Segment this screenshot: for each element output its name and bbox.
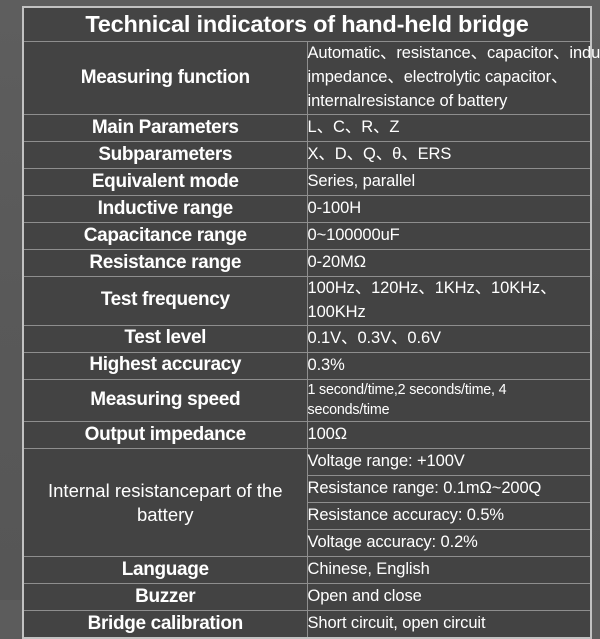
row-value-battery-resistance-range: Resistance range: 0.1mΩ~200Q <box>307 476 591 503</box>
table-row: Measuring speed 1 second/time,2 seconds/… <box>23 379 591 421</box>
table-row-battery: Internal resistancepart of the battery V… <box>23 449 591 476</box>
technical-indicators-table: Technical indicators of hand-held bridge… <box>22 6 592 639</box>
row-value-test-level: 0.1V、0.3V、0.6V <box>307 325 591 352</box>
table-row: Inductive range 0-100H <box>23 195 591 222</box>
row-value-bridge-calibration: Short circuit, open circuit <box>307 611 591 638</box>
row-value-equivalent-mode: Series, parallel <box>307 168 591 195</box>
table-row: Measuring function Automatic、resistance、… <box>23 42 591 115</box>
row-value-test-frequency: 100Hz、120Hz、1KHz、10KHz、100KHz <box>307 276 591 325</box>
value-line: impedance、electrolytic capacitor、 <box>308 66 591 90</box>
row-label-highest-accuracy: Highest accuracy <box>23 352 307 379</box>
row-label-resistance-range: Resistance range <box>23 249 307 276</box>
row-value-battery-voltage-accuracy: Voltage accuracy: 0.2% <box>307 530 591 557</box>
table-row: Language Chinese, English <box>23 557 591 584</box>
row-label-subparameters: Subparameters <box>23 141 307 168</box>
row-value-measuring-speed: 1 second/time,2 seconds/time, 4 seconds/… <box>307 379 591 421</box>
row-label-measuring-function: Measuring function <box>23 42 307 115</box>
row-value-buzzer: Open and close <box>307 584 591 611</box>
value-line: internalresistance of battery <box>308 90 591 114</box>
table-row: Main Parameters L、C、R、Z <box>23 114 591 141</box>
table-body: Technical indicators of hand-held bridge… <box>23 7 591 638</box>
row-label-capacitance-range: Capacitance range <box>23 222 307 249</box>
label-line: function <box>178 67 250 88</box>
row-value-capacitance-range: 0~100000uF <box>307 222 591 249</box>
row-label-test-frequency: Test frequency <box>23 276 307 325</box>
row-value-battery-resistance-accuracy: Resistance accuracy: 0.5% <box>307 503 591 530</box>
table-row: Highest accuracy 0.3% <box>23 352 591 379</box>
table-row: Test frequency 100Hz、120Hz、1KHz、10KHz、10… <box>23 276 591 325</box>
row-value-main-parameters: L、C、R、Z <box>307 114 591 141</box>
page-background: Technical indicators of hand-held bridge… <box>0 0 600 600</box>
row-value-battery-voltage-range: Voltage range: +100V <box>307 449 591 476</box>
row-label-test-level: Test level <box>23 325 307 352</box>
row-value-language: Chinese, English <box>307 557 591 584</box>
table-row: Resistance range 0-20MΩ <box>23 249 591 276</box>
table-row: Bridge calibration Short circuit, open c… <box>23 611 591 638</box>
row-label-main-parameters: Main Parameters <box>23 114 307 141</box>
row-label-equivalent-mode: Equivalent mode <box>23 168 307 195</box>
row-label-bridge-calibration: Bridge calibration <box>23 611 307 638</box>
value-line: Automatic、resistance、capacitor、inductanc… <box>308 42 591 66</box>
row-label-inductive-range: Inductive range <box>23 195 307 222</box>
table-row: Equivalent mode Series, parallel <box>23 168 591 195</box>
label-line: Measuring <box>81 67 173 88</box>
row-label-measuring-speed: Measuring speed <box>23 379 307 421</box>
table-row: Buzzer Open and close <box>23 584 591 611</box>
table-title-row: Technical indicators of hand-held bridge <box>23 7 591 42</box>
label-line: resistancepart <box>115 480 231 501</box>
table-row: Capacitance range 0~100000uF <box>23 222 591 249</box>
row-value-inductive-range: 0-100H <box>307 195 591 222</box>
row-value-resistance-range: 0-20MΩ <box>307 249 591 276</box>
row-label-buzzer: Buzzer <box>23 584 307 611</box>
row-label-output-impedance: Output impedance <box>23 422 307 449</box>
table-title: Technical indicators of hand-held bridge <box>23 7 591 42</box>
row-value-output-impedance: 100Ω <box>307 422 591 449</box>
row-label-battery-internal-resistance: Internal resistancepart of the battery <box>23 449 307 557</box>
row-value-subparameters: X、D、Q、θ、ERS <box>307 141 591 168</box>
label-line: Internal <box>48 480 110 501</box>
row-label-language: Language <box>23 557 307 584</box>
table-row: Test level 0.1V、0.3V、0.6V <box>23 325 591 352</box>
row-value-measuring-function: Automatic、resistance、capacitor、inductanc… <box>307 42 591 115</box>
row-value-highest-accuracy: 0.3% <box>307 352 591 379</box>
table-row: Output impedance 100Ω <box>23 422 591 449</box>
table-row: Subparameters X、D、Q、θ、ERS <box>23 141 591 168</box>
